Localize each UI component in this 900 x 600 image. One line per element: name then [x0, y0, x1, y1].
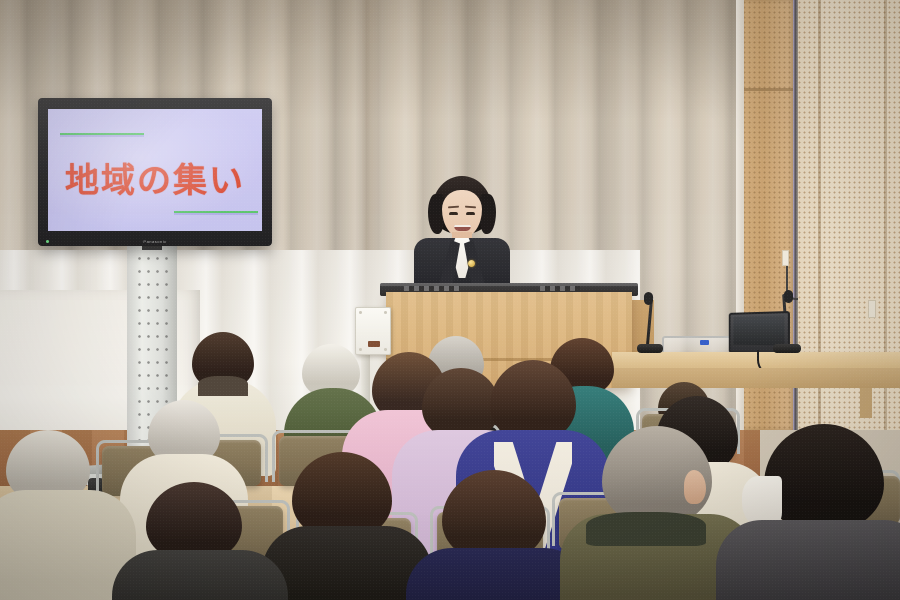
microphone-left-head-icon — [644, 292, 653, 305]
person-ear — [684, 470, 706, 504]
audience-person — [112, 482, 282, 600]
person-collar — [586, 512, 706, 546]
equipment-rack-indicator — [700, 340, 709, 345]
person-head — [764, 424, 884, 532]
presenter — [404, 176, 520, 292]
person-collar — [198, 376, 248, 396]
presenter-eye-right — [466, 212, 475, 215]
audience-person — [404, 470, 584, 600]
microphone-left-base — [637, 344, 663, 353]
wall-outlet-plate — [868, 300, 876, 318]
lectern-control-strip-left[interactable] — [404, 286, 460, 291]
slide-title: 地域の集い — [48, 153, 262, 202]
audience-person — [724, 424, 900, 600]
microphone-right-head-icon — [784, 290, 793, 303]
operator-table-top — [612, 352, 900, 368]
wood-wall-seam-horizontal — [742, 88, 794, 91]
wall-outlet-plate-secondary — [782, 250, 789, 266]
person-torso — [112, 550, 288, 600]
presenter-eye-left — [449, 212, 458, 215]
audience-person — [0, 430, 130, 600]
lectern-control-strip-right[interactable] — [540, 286, 580, 291]
speaker-screw-br-icon — [384, 348, 387, 351]
slide-rule-bottom-icon — [174, 211, 258, 213]
person-torso — [716, 520, 900, 600]
presenter-hair-right — [480, 194, 496, 234]
control-monitor-screen — [733, 315, 784, 345]
power-led-icon — [46, 240, 49, 243]
presenter-smile — [454, 225, 471, 231]
operator-table-leg — [860, 388, 872, 418]
slide-rule-top-icon — [60, 133, 144, 135]
lapel-pin-icon — [468, 260, 475, 267]
tv-brand-label: Panasonic — [143, 239, 166, 244]
lecture-hall-photo: 地域の集い Panasonic — [0, 0, 900, 600]
speaker-screw-tl-icon — [359, 311, 362, 314]
presentation-tv[interactable]: 地域の集い Panasonic — [38, 98, 272, 246]
speaker-screw-tr-icon — [384, 311, 387, 314]
tv-screen: 地域の集い — [48, 109, 262, 231]
